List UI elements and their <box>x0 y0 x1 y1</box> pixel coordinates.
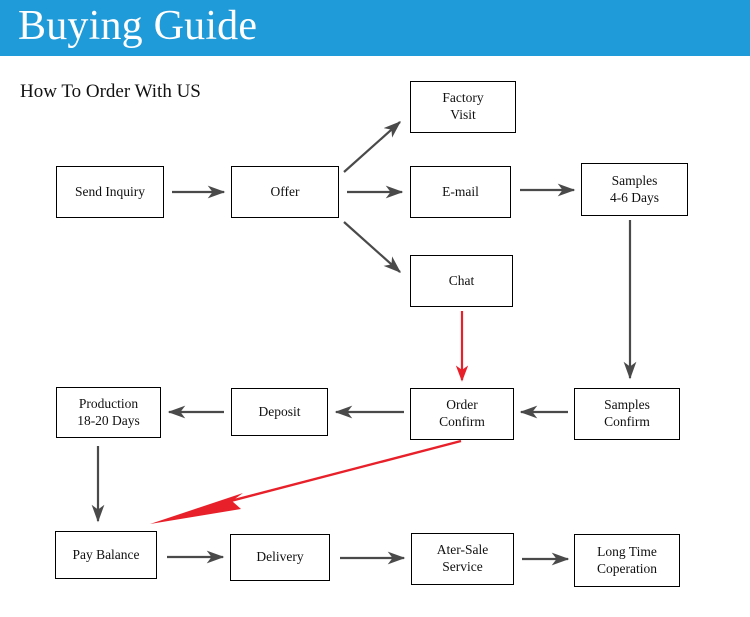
node-send-inquiry[interactable]: Send Inquiry <box>56 166 164 218</box>
node-label: Offer <box>268 184 303 201</box>
node-label: Chat <box>446 273 478 290</box>
node-label: Pay Balance <box>69 547 142 564</box>
node-label: Samples 4-6 Days <box>607 173 662 207</box>
buying-guide-page: Buying Guide How To Order With US <box>0 0 750 617</box>
node-samples-days[interactable]: Samples 4-6 Days <box>581 163 688 216</box>
node-offer[interactable]: Offer <box>231 166 339 218</box>
arrow-offer-to-chat <box>344 222 400 272</box>
node-label: Deposit <box>256 404 304 421</box>
node-label: Factory Visit <box>439 90 486 124</box>
node-label: Delivery <box>253 549 306 566</box>
arrow-order-confirm-to-pay-balance-head <box>150 493 243 524</box>
node-label: E-mail <box>439 184 482 201</box>
flow-arrows <box>0 0 750 617</box>
node-label: Production 18-20 Days <box>74 396 143 430</box>
node-pay-balance[interactable]: Pay Balance <box>55 531 157 579</box>
node-long-time-coperation[interactable]: Long Time Coperation <box>574 534 680 587</box>
node-label: Ater-Sale Service <box>434 542 491 576</box>
node-label: Send Inquiry <box>72 184 148 201</box>
node-factory-visit[interactable]: Factory Visit <box>410 81 516 133</box>
arrow-offer-to-factory-visit <box>344 122 400 172</box>
node-label: Samples Confirm <box>601 397 653 431</box>
node-label: Long Time Coperation <box>594 544 660 578</box>
node-order-confirm[interactable]: Order Confirm <box>410 388 514 440</box>
node-production[interactable]: Production 18-20 Days <box>56 387 161 438</box>
node-chat[interactable]: Chat <box>410 255 513 307</box>
node-email[interactable]: E-mail <box>410 166 511 218</box>
node-deposit[interactable]: Deposit <box>231 388 328 436</box>
node-after-sale-service[interactable]: Ater-Sale Service <box>411 533 514 585</box>
arrow-order-confirm-to-pay-balance <box>196 441 461 510</box>
node-delivery[interactable]: Delivery <box>230 534 330 581</box>
node-samples-confirm[interactable]: Samples Confirm <box>574 388 680 440</box>
node-label: Order Confirm <box>436 397 488 431</box>
